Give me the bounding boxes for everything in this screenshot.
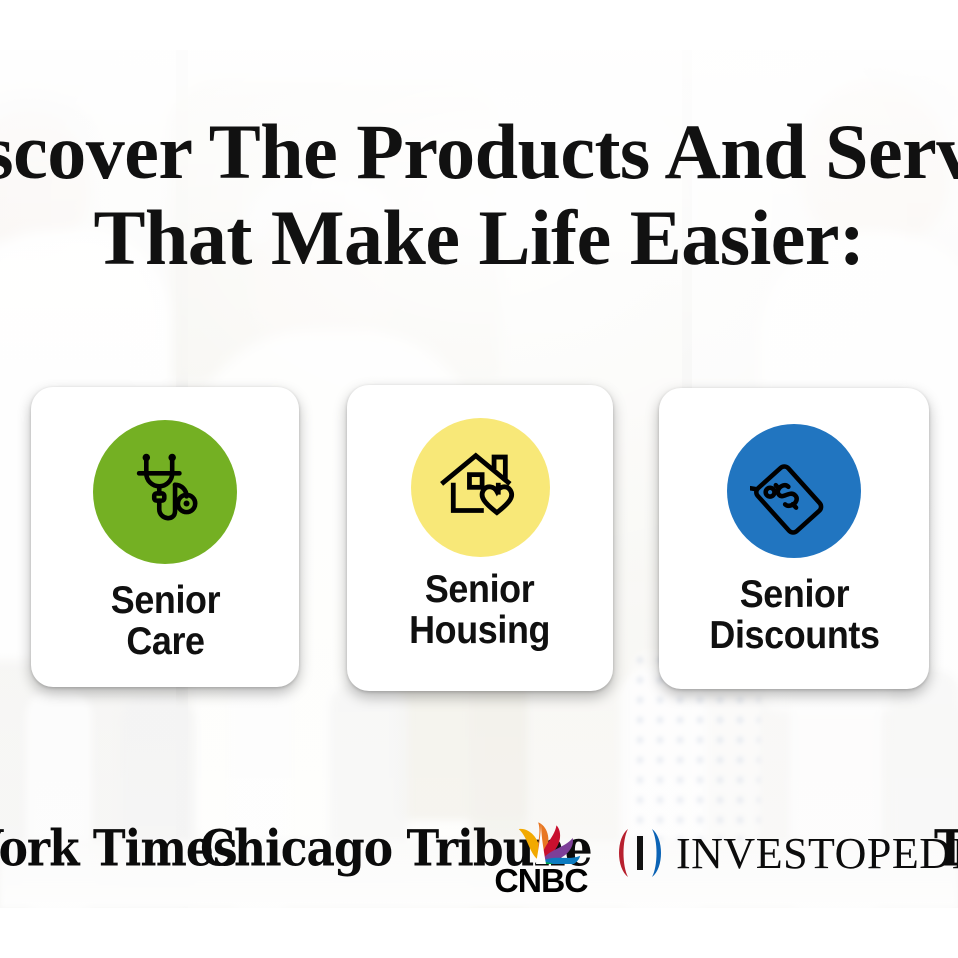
- promo-banner: scover The Products And Serv That Make L…: [0, 0, 958, 958]
- card-label-line-1: Senior: [110, 580, 219, 621]
- logo-cnbc: CNBC: [486, 806, 596, 900]
- card-label-line-2: Discounts: [709, 615, 879, 656]
- price-tag-dollar-icon: [727, 424, 861, 558]
- card-label-senior-care: Senior Care: [110, 580, 219, 662]
- card-label-line-1: Senior: [410, 569, 551, 610]
- investopedia-mark-icon: [612, 826, 668, 880]
- top-white-margin: [0, 0, 958, 50]
- headline-line-2: That Make Life Easier:: [0, 196, 958, 280]
- logo-investopedia: INVESTOPEDIA: [612, 826, 958, 880]
- press-logo-strip: York Times Chicago Tribune CNBC: [0, 800, 958, 900]
- investopedia-wordmark: INVESTOPEDIA: [676, 828, 958, 879]
- card-label-line-2: Care: [110, 621, 219, 662]
- card-label-senior-discounts: Senior Discounts: [709, 574, 879, 656]
- page-title: scover The Products And Serv That Make L…: [0, 110, 958, 280]
- stethoscope-icon: [93, 420, 237, 564]
- card-label-senior-housing: Senior Housing: [410, 569, 551, 651]
- card-label-line-2: Housing: [410, 610, 551, 651]
- cnbc-wordmark: CNBC: [485, 862, 597, 900]
- card-senior-care[interactable]: Senior Care: [31, 387, 299, 687]
- card-senior-discounts[interactable]: Senior Discounts: [659, 388, 929, 689]
- house-heart-icon: [411, 418, 550, 557]
- card-senior-housing[interactable]: Senior Housing: [347, 385, 613, 691]
- bottom-white-margin: [0, 908, 958, 958]
- card-label-line-1: Senior: [709, 574, 879, 615]
- cnbc-peacock-icon: [487, 806, 595, 864]
- headline-line-1: scover The Products And Serv: [0, 108, 958, 195]
- logo-washington-post-partial: T: [934, 821, 958, 878]
